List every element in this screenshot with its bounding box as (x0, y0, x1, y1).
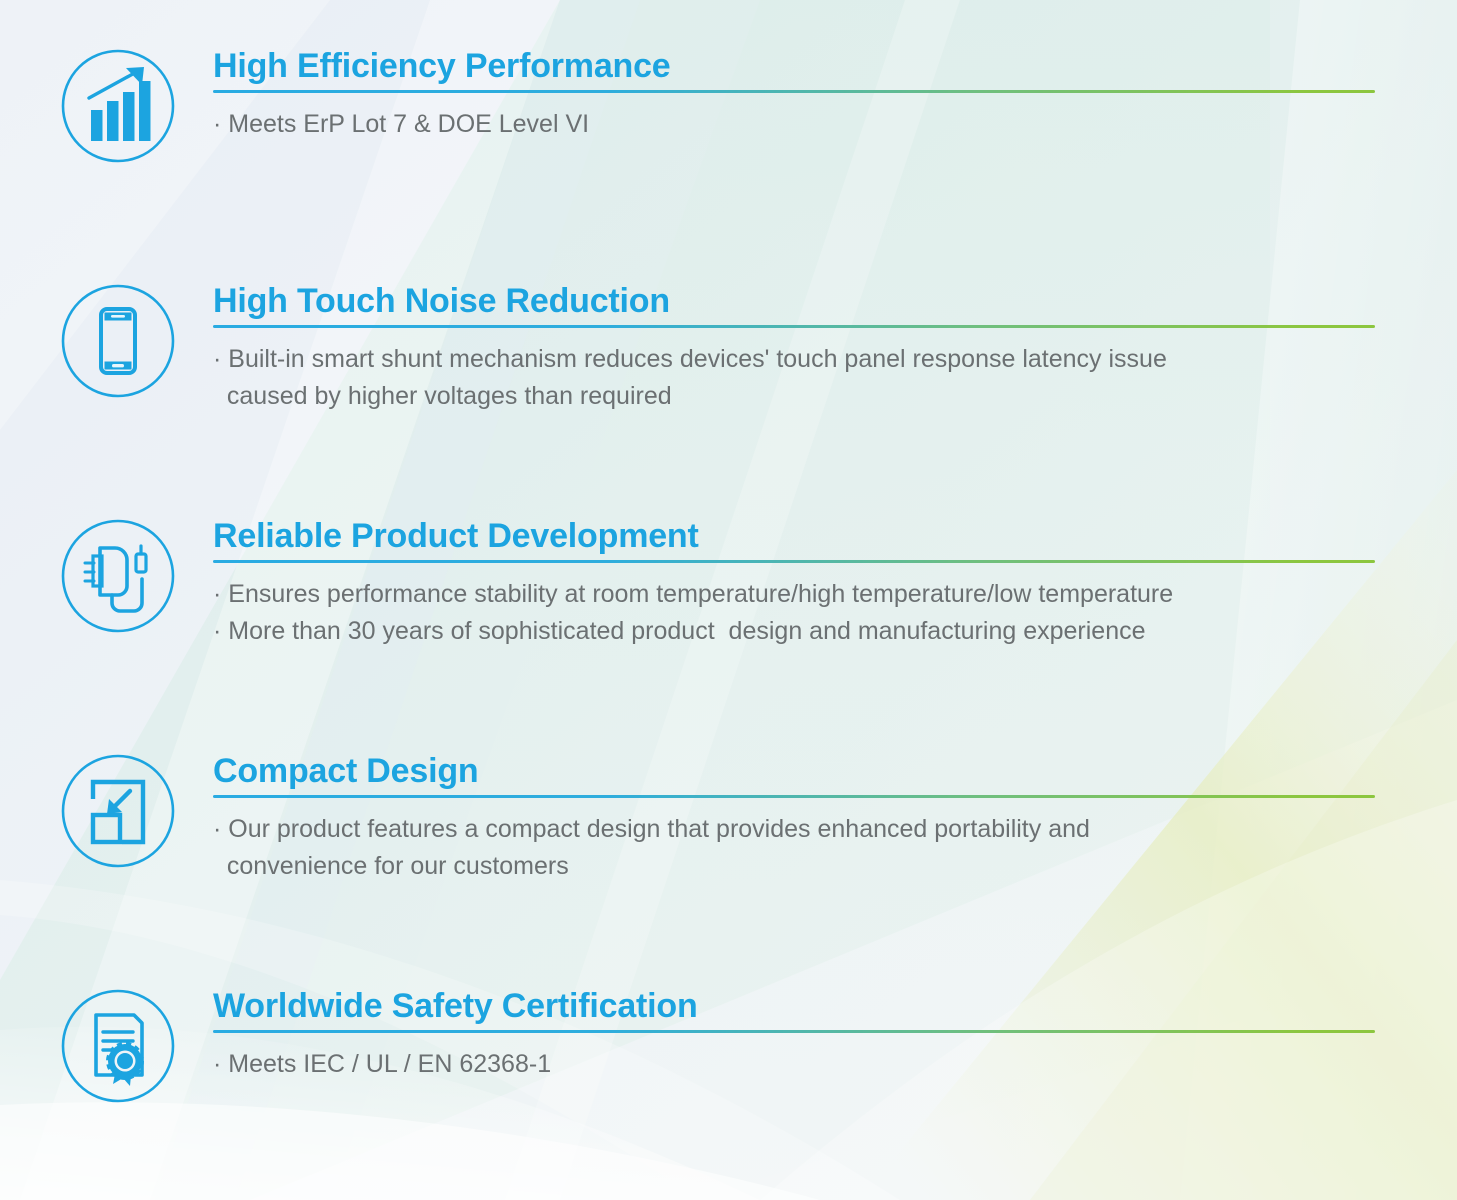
feature-divider (213, 325, 1375, 328)
feature-bullets: · Meets ErP Lot 7 & DOE Level VI (213, 107, 1375, 143)
feature-body: Reliable Product Development · Ensures p… (213, 518, 1375, 651)
feature-title: Reliable Product Development (213, 518, 1375, 554)
feature-bullet-line: · More than 30 years of sophisticated pr… (213, 614, 1375, 650)
feature-body: High Efficiency Performance · Meets ErP … (213, 48, 1375, 144)
feature-bullet-line: caused by higher voltages than required (213, 379, 1375, 415)
feature-list: High Efficiency Performance · Meets ErP … (0, 0, 1457, 1200)
bar-chart-growth-icon (60, 48, 176, 164)
feature-bullet-line: · Meets ErP Lot 7 & DOE Level VI (213, 107, 1375, 143)
feature-bullet-line: · Built-in smart shunt mechanism reduces… (213, 342, 1375, 378)
feature-title: Worldwide Safety Certification (213, 988, 1375, 1024)
certificate-award-icon (60, 988, 176, 1104)
feature-bullet-line: · Ensures performance stability at room … (213, 577, 1375, 613)
feature-bullet-line: · Meets IEC / UL / EN 62368-1 (213, 1047, 1375, 1083)
feature-bullets: · Meets IEC / UL / EN 62368-1 (213, 1047, 1375, 1083)
feature-bullet-line: convenience for our customers (213, 849, 1375, 885)
feature-divider (213, 795, 1375, 798)
compact-resize-icon (60, 753, 176, 869)
feature-bullets: · Our product features a compact design … (213, 812, 1375, 885)
feature-divider (213, 1030, 1375, 1033)
feature-title: High Efficiency Performance (213, 48, 1375, 84)
feature-bullets: · Ensures performance stability at room … (213, 577, 1375, 650)
power-adapter-icon (60, 518, 176, 634)
feature-body: Worldwide Safety Certification · Meets I… (213, 988, 1375, 1084)
feature-divider (213, 560, 1375, 563)
feature-bullets: · Built-in smart shunt mechanism reduces… (213, 342, 1375, 415)
feature-body: Compact Design · Our product features a … (213, 753, 1375, 886)
feature-title: Compact Design (213, 753, 1375, 789)
feature-bullet-line: · Our product features a compact design … (213, 812, 1375, 848)
smartphone-icon (60, 283, 176, 399)
feature-title: High Touch Noise Reduction (213, 283, 1375, 319)
feature-body: High Touch Noise Reduction · Built-in sm… (213, 283, 1375, 416)
feature-divider (213, 90, 1375, 93)
